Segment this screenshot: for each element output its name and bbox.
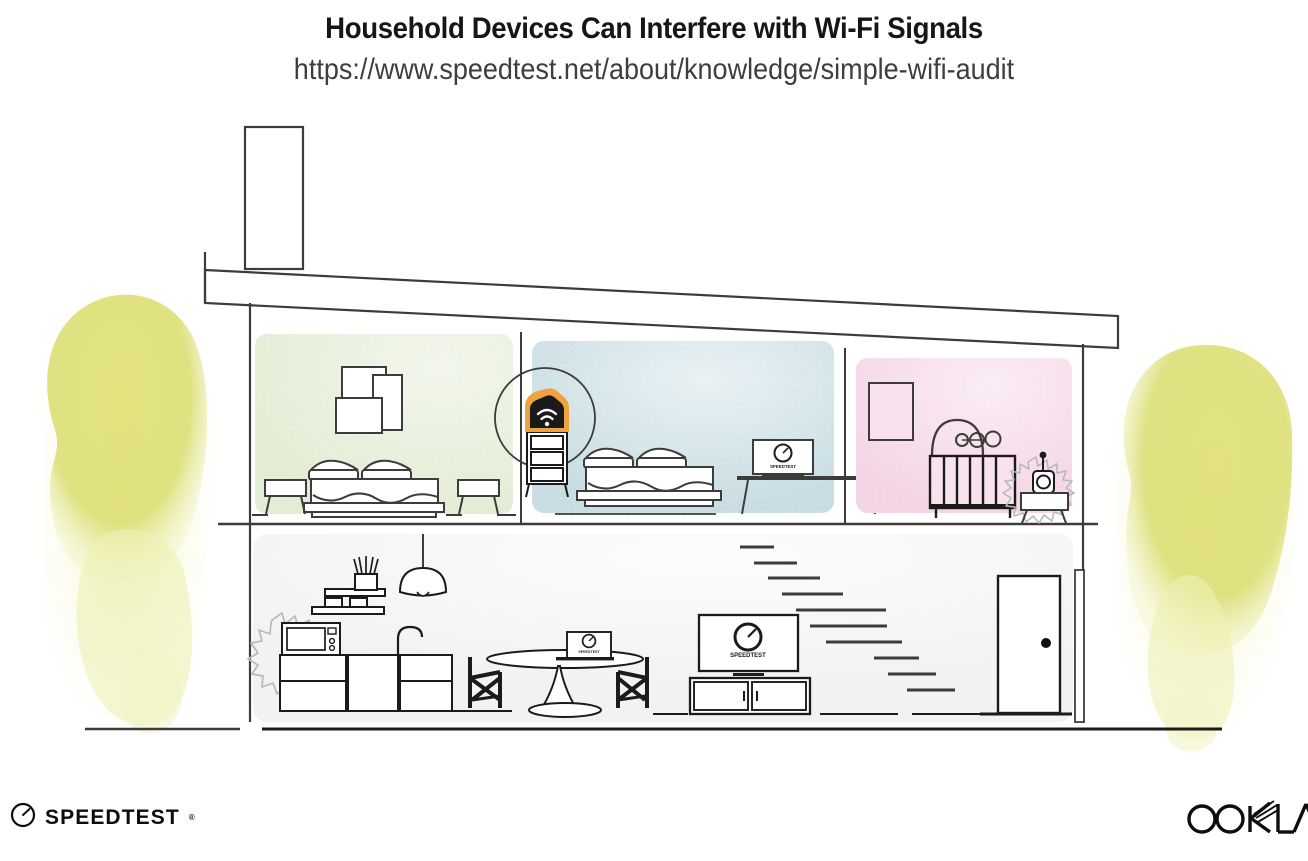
- front-door: [998, 576, 1060, 713]
- bowl-2: [350, 598, 367, 607]
- chimney: [245, 127, 303, 269]
- bowl-1: [325, 598, 342, 607]
- nursery-side-table: [1021, 493, 1068, 510]
- speedtest-trademark: ®: [189, 813, 195, 822]
- wall-frame-3: [336, 398, 382, 433]
- media-console: [690, 678, 810, 714]
- ookla-mark-icon: [1182, 800, 1308, 841]
- wall-frame-nursery: [869, 383, 913, 440]
- laptop-screen-label: SPEEDTEST: [770, 464, 796, 469]
- kitchen-cabinets: [280, 655, 452, 711]
- ookla-logo[interactable]: [1182, 800, 1308, 841]
- laptop-bedroom: SPEEDTEST: [753, 440, 813, 478]
- speedtest-gauge-icon: [10, 802, 36, 833]
- door-knob: [1041, 638, 1051, 648]
- television: SPEEDTEST: [699, 615, 798, 676]
- tv-screen-label: SPEEDTEST: [730, 653, 766, 659]
- speedtest-logo[interactable]: SPEEDTEST ®: [10, 802, 195, 833]
- laptop-dining-label: SPEEDTEST: [578, 650, 600, 654]
- utensil-jar: [355, 574, 377, 590]
- foliage-right: [1105, 335, 1300, 751]
- crib: [930, 456, 1015, 518]
- footer: SPEEDTEST ®: [0, 780, 1308, 861]
- foliage-left: [33, 291, 215, 733]
- house-illustration: SPEEDTEST: [0, 0, 1308, 861]
- speedtest-wordmark: SPEEDTEST: [45, 807, 180, 828]
